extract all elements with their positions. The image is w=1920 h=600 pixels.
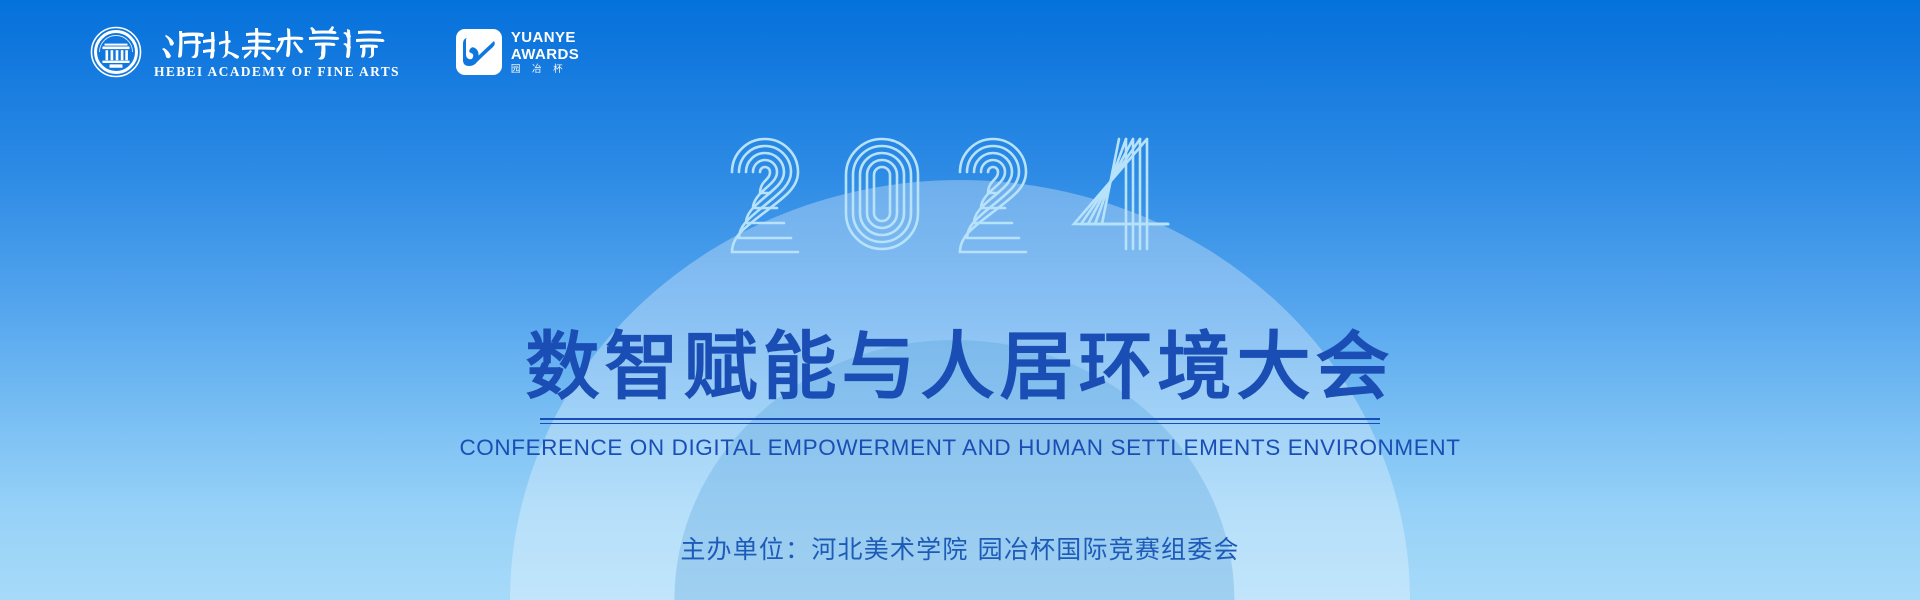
yuanye-line2: AWARDS <box>511 47 579 62</box>
organizer-line: 主办单位：河北美术学院 园冶杯国际竞赛组委会 <box>0 530 1920 566</box>
digit-4 <box>1074 139 1168 249</box>
conference-title-cn: 数智赋能与人居环境大会 <box>0 330 1920 404</box>
digit-2-second <box>960 139 1026 252</box>
logo-bar: HEBEI ACADEMY OF FINE ARTS YUANYE AWARDS… <box>90 26 579 79</box>
yuanye-line1: YUANYE <box>511 30 579 45</box>
conference-banner: HEBEI ACADEMY OF FINE ARTS YUANYE AWARDS… <box>0 0 1920 600</box>
year-2024-graphic <box>725 122 1195 282</box>
title-divider <box>540 418 1380 424</box>
digit-2-first <box>732 139 798 252</box>
yuanye-leaf-mark-icon <box>456 29 502 75</box>
hebei-academy-logo[interactable]: HEBEI ACADEMY OF FINE ARTS <box>90 26 400 79</box>
hebei-academy-name-en: HEBEI ACADEMY OF FINE ARTS <box>154 65 400 79</box>
conference-title-en: CONFERENCE ON DIGITAL EMPOWERMENT AND HU… <box>0 435 1920 461</box>
yuanye-wordmark: YUANYE AWARDS 园 冶 杯 <box>511 30 579 75</box>
title-block: 数智赋能与人居环境大会 CONFERENCE ON DIGITAL EMPOWE… <box>0 330 1920 461</box>
year-2024-icon <box>725 122 1195 282</box>
yuanye-name-cn: 园 冶 杯 <box>511 65 579 75</box>
yuanye-awards-logo[interactable]: YUANYE AWARDS 园 冶 杯 <box>456 29 579 75</box>
university-seal-icon <box>90 26 142 78</box>
digit-0 <box>846 139 918 249</box>
title-divider-line-thin <box>540 423 1380 424</box>
title-divider-line-thick <box>540 418 1380 420</box>
hebei-academy-wordmark: HEBEI ACADEMY OF FINE ARTS <box>154 26 400 79</box>
hebei-academy-name-cn-icon <box>162 26 392 60</box>
